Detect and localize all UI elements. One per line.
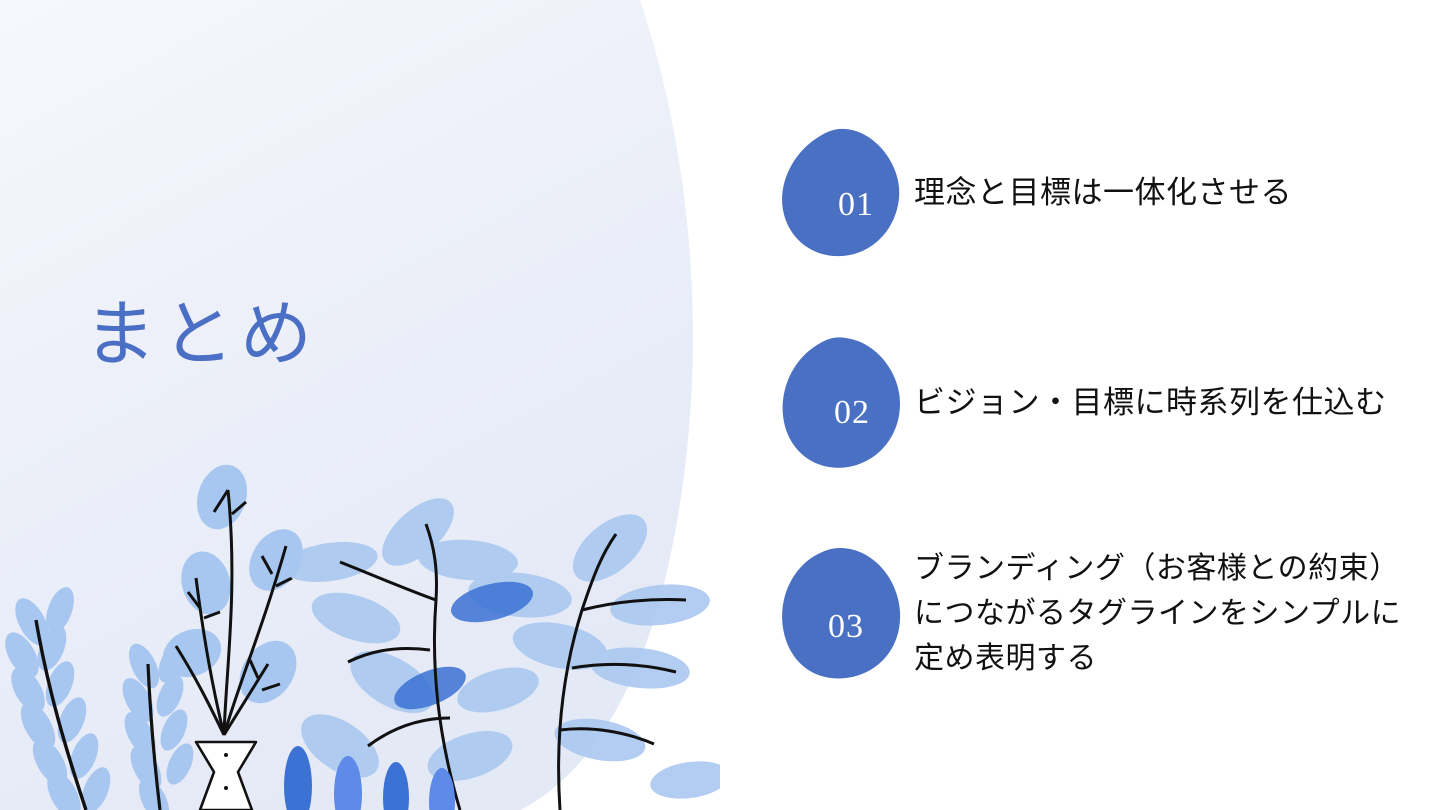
number-badge-label: 01 [794, 138, 918, 272]
number-badge-label: 02 [790, 346, 914, 480]
number-badge-03: 03 [780, 546, 904, 680]
list-item-text: ブランディング（お客様との約束）につながるタグラインをシンプルに定め表明する [914, 546, 1404, 681]
number-badge-02: 02 [780, 336, 904, 470]
summary-list: 01 理念と目標は一体化させる 02 ビジョン・目標に時系列を仕込む 03 ブラ… [780, 118, 1420, 698]
number-badge-label: 03 [784, 560, 908, 694]
slide-root: まとめ [0, 0, 1440, 810]
page-title: まとめ [84, 296, 318, 375]
list-item[interactable]: 01 理念と目標は一体化させる [780, 118, 1420, 268]
list-item-text: 理念と目標は一体化させる [914, 169, 1292, 216]
list-item[interactable]: 02 ビジョン・目標に時系列を仕込む [780, 328, 1420, 478]
right-branch-cluster [280, 486, 720, 810]
number-badge-01: 01 [780, 126, 904, 260]
list-item[interactable]: 03 ブランディング（お客様との約束）につながるタグラインをシンプルに定め表明す… [780, 528, 1420, 698]
plant-illustration [0, 450, 720, 810]
left-fern-cluster [0, 583, 199, 810]
list-item-text: ビジョン・目標に時系列を仕込む [914, 379, 1387, 426]
